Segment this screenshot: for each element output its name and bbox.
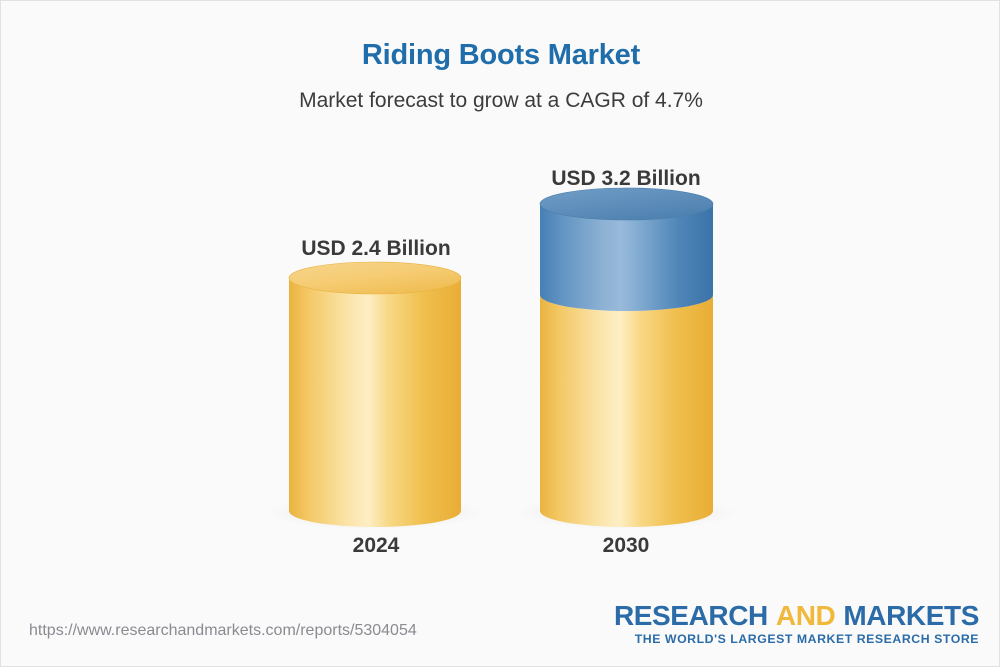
category-label-2024: 2024 [276, 534, 476, 558]
category-label-2030: 2030 [526, 534, 726, 558]
logo-word-markets: MARKETS [843, 600, 979, 631]
plot-area: USD 2.4 Billion USD 3.2 Billion 2024 203… [1, 1, 1000, 581]
bar-2030-base-body [540, 295, 713, 527]
value-label-2024: USD 2.4 Billion [276, 237, 476, 261]
cylinder-bars-svg [1, 1, 1000, 581]
logo-wordmark: RESEARCHANDMARKETS [614, 601, 979, 630]
bar-2024 [289, 262, 461, 527]
source-url[interactable]: https://www.researchandmarkets.com/repor… [29, 622, 417, 640]
bar-2024-body [289, 278, 461, 527]
value-label-2030: USD 3.2 Billion [526, 167, 726, 191]
logo-tagline: THE WORLD'S LARGEST MARKET RESEARCH STOR… [614, 632, 979, 647]
logo-word-research: RESEARCH [614, 600, 768, 631]
bar-2030-top-ellipse [540, 188, 713, 220]
research-and-markets-logo[interactable]: RESEARCHANDMARKETS THE WORLD'S LARGEST M… [614, 601, 979, 647]
bar-2030 [540, 188, 713, 527]
chart-canvas: Riding Boots Market Market forecast to g… [0, 0, 1000, 667]
bar-2024-top-ellipse [289, 262, 461, 294]
logo-word-and: AND [776, 600, 835, 631]
